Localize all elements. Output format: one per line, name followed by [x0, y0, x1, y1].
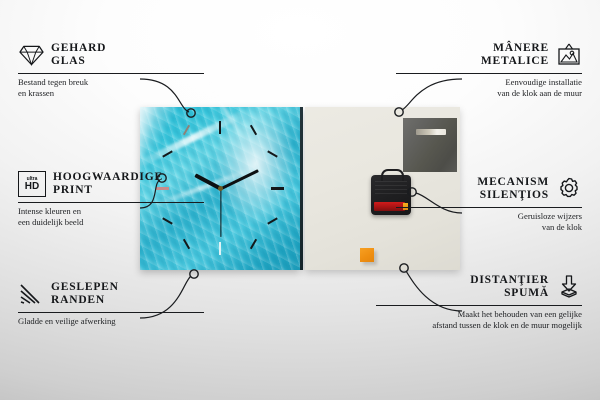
callout-description: Eenvoudige installatievan de klok aan de…: [396, 77, 582, 98]
callout-gehard-glas: GEHARDGLAS Bestand tegen breuken krassen: [18, 40, 204, 98]
diamond-icon: [18, 42, 44, 68]
callout-geslepen-randen: GESLEPENRANDEN Gladde en veilige afwerki…: [18, 279, 204, 327]
callout-mecanism-silentios: MECANISMSILENŢIOS Geruisloze wijzersvan …: [396, 174, 582, 232]
callout-rule: [376, 305, 582, 306]
clock-second-hand: [220, 189, 221, 237]
gear-icon: [556, 176, 582, 202]
foam-spacer: [360, 248, 374, 262]
callout-rule: [396, 73, 582, 74]
clock-tick-1: [250, 125, 257, 136]
callout-header: ultra HD HOOGWAARDIGEPRINT: [18, 169, 204, 199]
callout-rule: [396, 207, 582, 208]
metal-hanger-plate: [403, 118, 457, 172]
callout-header: GESLEPENRANDEN: [18, 279, 204, 309]
clock-tick-11: [183, 125, 190, 136]
callout-title: DISTANŢIERSPUMĂ: [470, 274, 549, 300]
callout-rule: [18, 202, 204, 203]
clock-tick-4: [267, 217, 278, 224]
callout-description: Gladde en veilige afwerking: [18, 316, 204, 327]
callout-header: GEHARDGLAS: [18, 40, 204, 70]
product-infographic: GEHARDGLAS Bestand tegen breuken krassen…: [0, 0, 600, 400]
callout-rule: [18, 73, 204, 74]
diagonal-lines-icon: [18, 281, 44, 307]
callout-header: DISTANŢIERSPUMĂ: [376, 272, 582, 302]
callout-title: GEHARDGLAS: [51, 42, 106, 68]
callout-title: HOOGWAARDIGEPRINT: [53, 171, 163, 197]
clock-tick-12: [219, 121, 221, 134]
clock-tick-5: [250, 239, 257, 250]
clock-center-cap: [218, 186, 223, 191]
callout-description: Bestand tegen breuken krassen: [18, 77, 204, 98]
arrow-down-pad-icon: [556, 274, 582, 300]
callout-manere-metalice: MÂNEREMETALICE Eenvoudige installatievan…: [396, 40, 582, 98]
callout-distantier-spuma: DISTANŢIERSPUMĂ Maakt het behouden van e…: [376, 272, 582, 330]
ultra-hd-icon: ultra HD: [18, 171, 46, 197]
callout-title: MECANISMSILENŢIOS: [477, 176, 549, 202]
callout-header: MECANISMSILENŢIOS: [396, 174, 582, 204]
callout-description: Intense kleuren eneen duidelijk beeld: [18, 206, 204, 227]
callout-description: Maakt het behouden van een gelijkeafstan…: [376, 309, 582, 330]
callout-header: MÂNEREMETALICE: [396, 40, 582, 70]
ultra-hd-icon-label-bottom: HD: [25, 182, 39, 192]
callout-description: Geruisloze wijzersvan de klok: [396, 211, 582, 232]
callout-hoogwaardige-print: ultra HD HOOGWAARDIGEPRINT Intense kleur…: [18, 169, 204, 227]
clock-tick-6: [219, 242, 221, 255]
clock-tick-7: [183, 239, 190, 250]
callout-title: MÂNEREMETALICE: [481, 42, 549, 68]
clock-tick-3: [271, 187, 284, 190]
clock-tick-2: [267, 150, 278, 157]
callout-rule: [18, 312, 204, 313]
picture-frame-hanger-icon: [556, 42, 582, 68]
hanger-slot: [416, 129, 446, 135]
callout-title: GESLEPENRANDEN: [51, 281, 119, 307]
